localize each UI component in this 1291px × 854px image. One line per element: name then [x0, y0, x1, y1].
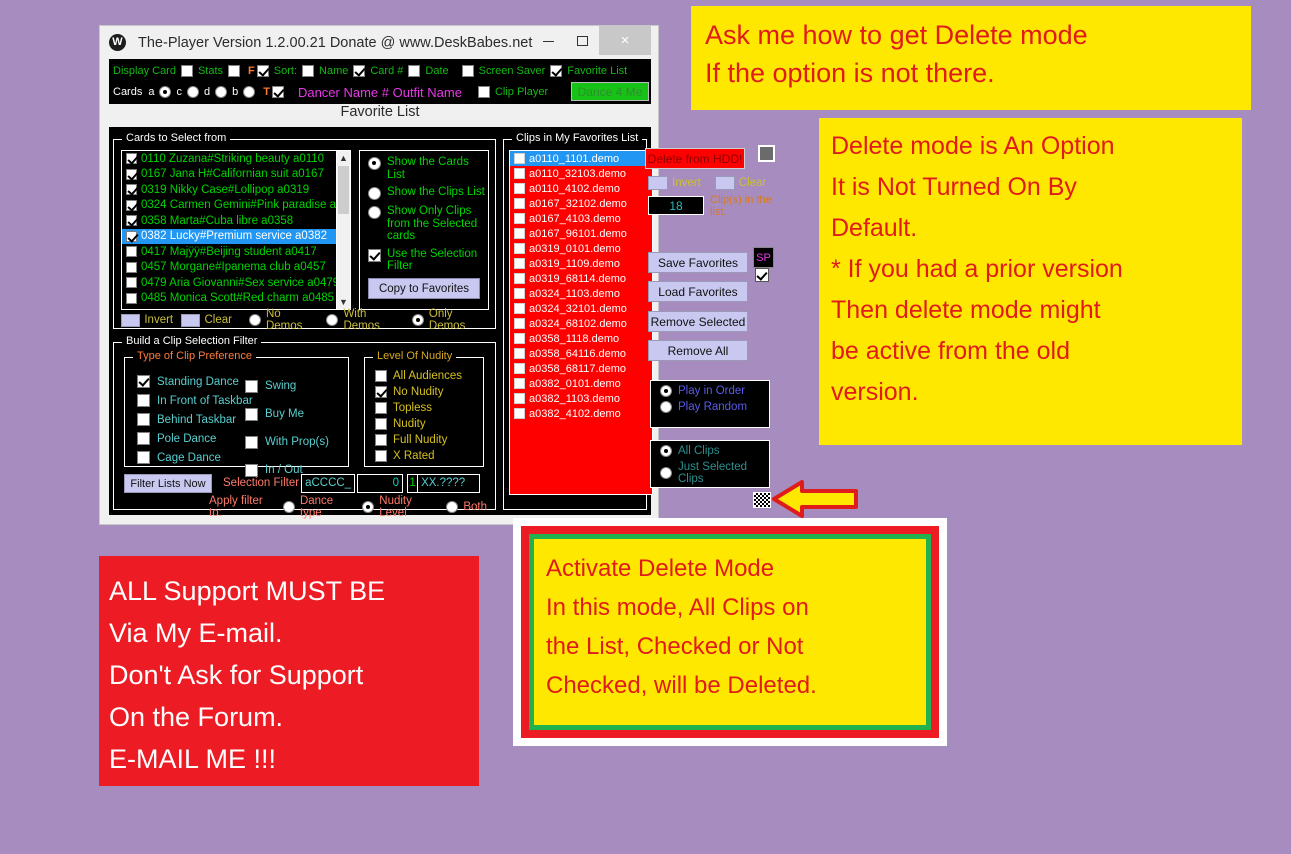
display-card-checkbox[interactable] — [181, 65, 193, 77]
clip-type-option[interactable]: Behind Taskbar — [135, 410, 253, 429]
demo-mode-label: With Demos — [343, 308, 402, 332]
clip-item-label: a0319_1109.demo — [529, 258, 620, 270]
clip-type-option-label: Swing — [265, 380, 296, 392]
cards-label: Cards — [113, 86, 142, 98]
clip-item-label: a0324_68102.demo — [529, 318, 627, 330]
clip-list-item[interactable]: a0382_4102.demo — [510, 406, 652, 421]
cards-clear-label: Clear — [204, 314, 231, 326]
cards-view-options: Show the Cards ListShow the Clips ListSh… — [359, 150, 489, 310]
remove-selected-button[interactable]: Remove Selected — [648, 311, 748, 332]
radio-button[interactable] — [660, 467, 672, 479]
demo-mode-label: Only Demos — [429, 308, 489, 332]
clip-list-item[interactable]: a0319_1109.demo — [510, 256, 652, 271]
minimize-button[interactable] — [531, 26, 565, 56]
annotation-line: Then delete mode might — [831, 290, 1242, 331]
nudity-level-option-label: Full Nudity — [393, 434, 447, 446]
sort-name-checkbox[interactable] — [302, 65, 314, 77]
radio-button[interactable] — [249, 314, 261, 326]
options-toolbar: Display Card Stats F Sort: Name Card # D… — [109, 59, 651, 104]
annotation-line: be active from the old — [831, 331, 1242, 372]
filter-lists-now-button[interactable]: Filter Lists Now — [124, 474, 212, 493]
checkbox[interactable] — [245, 436, 258, 449]
clip-list-item[interactable]: a0110_4102.demo — [510, 181, 652, 196]
annotation-line: Default. — [831, 208, 1242, 249]
clip-list-item[interactable]: a0358_1118.demo — [510, 331, 652, 346]
nudity-level-option[interactable]: X Rated — [373, 448, 462, 464]
clip-item-label: a0319_68114.demo — [529, 273, 626, 285]
clip-list-item[interactable]: a0324_68102.demo — [510, 316, 652, 331]
selection-filter-label: Selection Filter — [223, 477, 299, 489]
sp-checkbox[interactable] — [755, 268, 769, 282]
annotation-line: On the Forum. — [109, 696, 479, 738]
checkbox[interactable] — [137, 413, 150, 426]
radio-button[interactable] — [660, 385, 672, 397]
delete-from-hdd-button[interactable]: Delete from HDD! — [645, 148, 745, 169]
copy-to-favorites-button[interactable]: Copy to Favorites — [368, 278, 480, 299]
clip-list-item[interactable]: a0110_32103.demo — [510, 166, 652, 181]
clip-list-item[interactable]: a0382_1103.demo — [510, 391, 652, 406]
scrollbar-thumb[interactable] — [338, 166, 349, 214]
cards-view-option[interactable]: Show Only Clips from the Selected cards — [366, 205, 488, 243]
selection-filter-index-input[interactable]: 1 — [407, 474, 418, 493]
clip-type-option[interactable]: With Prop(s) — [243, 428, 329, 456]
card-item-label: 0457 Morgane#Ipanema club a0457 — [141, 261, 326, 273]
clip-scope-option-label: Just Selected Clips — [678, 461, 769, 485]
nudity-level-option[interactable]: Nudity — [373, 416, 462, 432]
clip-type-option-label: With Prop(s) — [265, 436, 329, 448]
clip-list-item[interactable]: a0324_1103.demo — [510, 286, 652, 301]
demo-mode-option[interactable]: No Demos — [247, 308, 317, 332]
checkbox[interactable] — [514, 213, 525, 224]
t-label: T — [263, 86, 270, 98]
clip-item-label: a0167_4103.demo — [529, 213, 621, 225]
checkbox[interactable] — [245, 380, 258, 393]
nudity-level-option[interactable]: Full Nudity — [373, 432, 462, 448]
cards-view-option-label: Use the Selection Filter — [387, 248, 488, 273]
checkbox[interactable] — [514, 408, 525, 419]
clip-item-label: a0319_0101.demo — [529, 243, 621, 255]
card-item-label: 0382 Lucky#Premium service a0382 — [141, 230, 327, 242]
clip-item-label: a0324_1103.demo — [529, 288, 620, 300]
card-list-item[interactable]: 0358 Marta#Cuba libre a0358 — [122, 213, 342, 229]
screen-saver-label: Screen Saver — [479, 65, 546, 77]
clip-type-option-label: In Front of Taskbar — [157, 395, 253, 407]
card-list-item[interactable]: 0324 Carmen Gemini#Pink paradise a0324 — [122, 198, 342, 214]
radio-button[interactable] — [660, 445, 672, 457]
level-of-nudity-group: Level Of Nudity All AudiencesNo NudityTo… — [364, 357, 484, 467]
annotation-activate-delete-mode: Activate Delete ModeIn this mode, All Cl… — [513, 518, 947, 746]
card-a-label: a — [148, 86, 154, 98]
stats-label: Stats — [198, 65, 223, 77]
delete-mode-toggle[interactable] — [758, 145, 775, 162]
card-d-label: d — [204, 86, 210, 98]
favorite-list-checkbox[interactable] — [550, 65, 562, 77]
apply-filter-option[interactable]: Dance type — [281, 495, 352, 519]
cards-group-legend: Cards to Select from — [122, 132, 230, 144]
clip-type-option-label: Behind Taskbar — [157, 414, 236, 426]
minimize-icon — [543, 41, 554, 42]
title-bar: W The-Player Version 1.2.00.21 Donate @ … — [100, 26, 658, 59]
radio-button[interactable] — [326, 314, 338, 326]
f-checkbox[interactable] — [257, 65, 269, 77]
clip-item-label: a0167_96101.demo — [529, 228, 627, 240]
play-order-group: Play in OrderPlay Random — [650, 380, 770, 428]
checkbox[interactable] — [514, 153, 525, 164]
checkbox[interactable] — [137, 375, 150, 388]
clips-clear-label: Clear — [739, 177, 766, 189]
card-item-label: 0417 Majÿÿ#Beijing student a0417 — [141, 246, 317, 258]
clips-list[interactable]: a0110_1101.demoa0110_32103.demoa0110_410… — [509, 150, 653, 495]
window-title: The-Player Version 1.2.00.21 Donate @ ww… — [138, 35, 532, 51]
checkbox[interactable] — [126, 169, 137, 180]
clip-type-option[interactable]: Swing — [243, 372, 329, 400]
cards-view-option-label: Show the Clips List — [387, 186, 485, 199]
checkbox[interactable] — [368, 249, 381, 262]
stats-checkbox[interactable] — [228, 65, 240, 77]
annotation-delete-mode-option: Delete mode is An OptionIt is Not Turned… — [819, 118, 1242, 445]
clip-list-item[interactable]: a0319_0101.demo — [510, 241, 652, 256]
checkbox[interactable] — [126, 231, 137, 242]
cards-view-option-label: Show Only Clips from the Selected cards — [387, 205, 488, 243]
checkbox[interactable] — [137, 394, 150, 407]
card-item-label: 0167 Jana H#Californian suit a0167 — [141, 168, 324, 180]
annotation-line: Ask me how to get Delete mode — [705, 16, 1251, 54]
annotation-line: Checked, will be Deleted. — [546, 666, 926, 705]
clips-invert-label: Invert — [672, 177, 701, 189]
annotation-line: version. — [831, 372, 1242, 413]
clip-type-option[interactable]: In Front of Taskbar — [135, 391, 253, 410]
checkbox[interactable] — [514, 198, 525, 209]
clip-list-item[interactable]: a0324_32101.demo — [510, 301, 652, 316]
cards-invert-button[interactable] — [121, 314, 140, 327]
checkbox[interactable] — [514, 393, 525, 404]
annotation-line: Activate Delete Mode — [546, 549, 926, 588]
checkbox[interactable] — [375, 370, 387, 382]
radio-button[interactable] — [368, 187, 381, 200]
clip-item-label: a0110_4102.demo — [529, 183, 620, 195]
card-a-radio[interactable] — [159, 86, 171, 98]
checkbox[interactable] — [137, 432, 150, 445]
pointer-arrow-icon — [772, 478, 858, 520]
checkbox[interactable] — [514, 378, 525, 389]
maximize-button[interactable] — [565, 26, 599, 56]
clip-type-option[interactable]: Pole Dance — [135, 429, 253, 448]
radio-button[interactable] — [660, 401, 672, 413]
checkbox[interactable] — [514, 363, 525, 374]
clip-type-option-label: Cage Dance — [157, 452, 221, 464]
checkbox[interactable] — [514, 318, 525, 329]
clips-group-legend: Clips in My Favorites List — [512, 132, 642, 144]
checkbox[interactable] — [245, 408, 258, 421]
clip-item-label: a0358_1118.demo — [529, 333, 619, 345]
card-b-label: b — [232, 86, 238, 98]
checkbox[interactable] — [514, 243, 525, 254]
nudity-level-option-label: All Audiences — [393, 370, 462, 382]
clip-list-item[interactable]: a0110_1101.demo — [510, 151, 652, 166]
card-c-radio[interactable] — [187, 86, 199, 98]
screen-saver-checkbox[interactable] — [462, 65, 474, 77]
app-logo-icon: W — [109, 34, 126, 51]
apply-filter-option[interactable]: Both — [444, 501, 487, 513]
clip-selection-filter-group: Build a Clip Selection Filter Type of Cl… — [113, 342, 496, 510]
checkbox[interactable] — [514, 288, 525, 299]
selection-filter-mask-input[interactable]: XX.???? — [418, 474, 480, 493]
clip-list-item[interactable]: a0167_96101.demo — [510, 226, 652, 241]
checkbox[interactable] — [126, 246, 137, 257]
annotation-support-email: ALL Support MUST BEVia My E-mail.Don't A… — [99, 556, 479, 786]
radio-button[interactable] — [368, 157, 381, 170]
clip-item-label: a0167_32102.demo — [529, 198, 627, 210]
card-list-item[interactable]: 0457 Morgane#Ipanema club a0457 — [122, 260, 342, 276]
dance-4-me-button[interactable]: Dance 4 Me — [571, 82, 649, 101]
display-card-label: Display Card — [113, 65, 176, 77]
card-item-label: 0319 Nikky Case#Lollipop a0319 — [141, 184, 309, 196]
checkbox[interactable] — [126, 293, 137, 304]
radio-button[interactable] — [368, 206, 381, 219]
sort-date-label: Date — [425, 65, 448, 77]
scroll-down-icon[interactable]: ▼ — [337, 295, 350, 309]
radio-button[interactable] — [446, 501, 458, 513]
clip-type-option-label: Pole Dance — [157, 433, 216, 445]
annotation-line: Via My E-mail. — [109, 612, 479, 654]
checkbox[interactable] — [514, 228, 525, 239]
checkbox[interactable] — [514, 168, 525, 179]
annotation-body: Activate Delete ModeIn this mode, All Cl… — [534, 539, 926, 725]
card-list-item[interactable]: 0479 Aria Giovanni#Sex service a0479 — [122, 275, 342, 291]
card-list-item[interactable]: 0110 Zuzana#Striking beauty a0110 — [122, 151, 342, 167]
apply-filter-row: Apply filter to: Dance typeNudity LevelB… — [209, 495, 495, 519]
clip-type-option-label: Buy Me — [265, 408, 304, 420]
play-order-option-label: Play Random — [678, 401, 747, 413]
clip-list-item[interactable]: a0167_4103.demo — [510, 211, 652, 226]
card-b-radio[interactable] — [243, 86, 255, 98]
checkbox[interactable] — [514, 258, 525, 269]
f-label: F — [248, 65, 255, 77]
play-order-option-label: Play in Order — [678, 385, 745, 397]
maximize-icon — [577, 36, 588, 46]
checkbox[interactable] — [375, 386, 387, 398]
clip-item-label: a0358_68117.demo — [529, 363, 626, 375]
card-list-item[interactable]: 0485 Monica Scott#Red charm a0485 — [122, 291, 342, 307]
clip-item-label: a0382_4102.demo — [529, 408, 621, 420]
clip-item-label: a0358_64116.demo — [529, 348, 626, 360]
nudity-level-option-label: No Nudity — [393, 386, 444, 398]
clip-list-item[interactable]: a0319_68114.demo — [510, 271, 652, 286]
checkbox[interactable] — [514, 183, 525, 194]
clip-list-item[interactable]: a0358_64116.demo — [510, 346, 652, 361]
sort-cardnum-label: Card # — [370, 65, 403, 77]
nudity-level-option-label: Topless — [393, 402, 432, 414]
card-item-label: 0324 Carmen Gemini#Pink paradise a0324 — [141, 199, 343, 211]
demo-mode-option[interactable]: Only Demos — [410, 308, 489, 332]
cards-list-scrollbar[interactable]: ▲ ▼ — [336, 150, 351, 310]
favorite-list-label: Favorite List — [567, 65, 627, 77]
scroll-up-icon[interactable]: ▲ — [337, 151, 350, 165]
cards-bottom-bar: Invert Clear No DemosWith DemosOnly Demo… — [121, 312, 489, 328]
annotation-border-green: Activate Delete ModeIn this mode, All Cl… — [529, 534, 931, 730]
clips-invert-clear-row: Invert Clear — [648, 176, 774, 190]
checkbox[interactable] — [514, 333, 525, 344]
clip-list-item[interactable]: a0358_68117.demo — [510, 361, 652, 376]
annotation-line: Delete mode is An Option — [831, 126, 1242, 167]
play-order-option[interactable]: Play Random — [658, 401, 769, 413]
apply-filter-option[interactable]: Nudity Level — [360, 495, 436, 519]
card-item-label: 0479 Aria Giovanni#Sex service a0479 — [141, 277, 339, 289]
clips-clear-button[interactable] — [715, 176, 735, 190]
remove-all-button[interactable]: Remove All — [648, 340, 748, 361]
nudity-level-option[interactable]: Topless — [373, 400, 462, 416]
t-checkbox[interactable] — [272, 86, 284, 98]
checkbox[interactable] — [514, 303, 525, 314]
clip-scope-option-label: All Clips — [678, 445, 720, 457]
apply-filter-option-label: Dance type — [300, 495, 352, 519]
card-list-item[interactable]: 0417 Majÿÿ#Beijing student a0417 — [122, 244, 342, 260]
checker-icon — [754, 493, 770, 507]
checkbox[interactable] — [375, 418, 387, 430]
clip-type-option[interactable]: Cage Dance — [135, 448, 253, 467]
card-list-item[interactable]: 0382 Lucky#Premium service a0382 — [122, 229, 342, 245]
nudity-level-option[interactable]: No Nudity — [373, 384, 462, 400]
close-button[interactable]: × — [599, 26, 651, 55]
apply-filter-option-label: Both — [463, 501, 487, 513]
annotation-line: ALL Support MUST BE — [109, 570, 479, 612]
clips-in-favorites-group: Clips in My Favorites List a0110_1101.de… — [503, 139, 647, 510]
radio-button[interactable] — [283, 501, 295, 513]
clip-count-label: Clip(s) in the list. — [710, 194, 772, 218]
annotation-line: It is Not Turned On By — [831, 167, 1242, 208]
annotation-line: If the option is not there. — [705, 54, 1251, 92]
nudity-level-option-label: X Rated — [393, 450, 435, 462]
checkbox[interactable] — [126, 262, 137, 273]
play-order-option[interactable]: Play in Order — [658, 385, 769, 397]
clip-item-label: a0110_32103.demo — [529, 168, 626, 180]
clip-scope-group: All ClipsJust Selected Clips — [650, 440, 770, 488]
clip-item-label: a0382_1103.demo — [529, 393, 620, 405]
clip-list-item[interactable]: a0167_32102.demo — [510, 196, 652, 211]
annotation-line: Don't Ask for Support — [109, 654, 479, 696]
radio-button[interactable] — [412, 314, 424, 326]
clip-item-label: a0324_32101.demo — [529, 303, 627, 315]
sort-cardnum-checkbox[interactable] — [353, 65, 365, 77]
demo-mode-label: No Demos — [266, 308, 317, 332]
clip-type-option-label: Standing Dance — [157, 376, 239, 388]
cards-to-select-group: Cards to Select from 0110 Zuzana#Strikin… — [113, 139, 496, 329]
cards-view-option[interactable]: Use the Selection Filter — [366, 248, 488, 273]
checkbox[interactable] — [514, 348, 525, 359]
load-favorites-button[interactable]: Load Favorites — [648, 281, 748, 302]
cards-view-option-label: Show the Cards List — [387, 156, 488, 181]
clips-invert-button[interactable] — [648, 176, 668, 190]
sort-name-label: Name — [319, 65, 348, 77]
checkbox[interactable] — [126, 200, 137, 211]
checkered-mode-button[interactable] — [753, 492, 771, 508]
cards-view-option[interactable]: Show the Cards List — [366, 156, 488, 181]
checkbox[interactable] — [375, 434, 387, 446]
card-d-radio[interactable] — [215, 86, 227, 98]
annotation-line: E-MAIL ME !!! — [109, 738, 479, 780]
card-c-label: c — [176, 86, 182, 98]
sp-badge: SP — [753, 247, 774, 268]
checkbox[interactable] — [126, 184, 137, 195]
type-group-legend: Type of Clip Preference — [133, 350, 256, 362]
card-item-label: 0358 Marta#Cuba libre a0358 — [141, 215, 293, 227]
clip-scope-option[interactable]: Just Selected Clips — [658, 461, 769, 485]
annotation-line: * If you had a prior version — [831, 249, 1242, 290]
nudity-level-option-label: Nudity — [393, 418, 426, 430]
cards-view-option[interactable]: Show the Clips List — [366, 186, 488, 200]
annotation-border-red: Activate Delete ModeIn this mode, All Cl… — [521, 526, 939, 738]
clip-item-label: a0382_0101.demo — [529, 378, 621, 390]
application-window: W The-Player Version 1.2.00.21 Donate @ … — [99, 25, 659, 525]
card-item-label: 0110 Zuzana#Striking beauty a0110 — [141, 153, 324, 165]
checkbox[interactable] — [375, 450, 387, 462]
clip-type-option[interactable]: Buy Me — [243, 400, 329, 428]
cards-list[interactable]: 0110 Zuzana#Striking beauty a01100167 Ja… — [121, 150, 343, 310]
checkbox[interactable] — [126, 215, 137, 226]
save-favorites-button[interactable]: Save Favorites — [648, 252, 748, 273]
content-area: Cards to Select from 0110 Zuzana#Strikin… — [109, 127, 651, 515]
radio-button[interactable] — [362, 501, 374, 513]
checkbox[interactable] — [514, 273, 525, 284]
sort-date-checkbox[interactable] — [408, 65, 420, 77]
type-of-clip-preference-group: Type of Clip Preference Standing DanceIn… — [124, 357, 349, 467]
filter-group-legend: Build a Clip Selection Filter — [122, 335, 261, 347]
annotation-line: In this mode, All Clips on — [546, 588, 926, 627]
clip-scope-option[interactable]: All Clips — [658, 445, 769, 457]
card-list-item[interactable]: 0319 Nikky Case#Lollipop a0319 — [122, 182, 342, 198]
checkbox[interactable] — [375, 402, 387, 414]
clip-list-item[interactable]: a0382_0101.demo — [510, 376, 652, 391]
checkbox[interactable] — [137, 451, 150, 464]
filter-controls-row: Filter Lists Now Selection Filter aCCCC_… — [124, 473, 489, 493]
selection-filter-number-input[interactable]: 0 — [357, 474, 403, 493]
nudity-group-legend: Level Of Nudity — [373, 350, 456, 362]
apply-filter-to-label: Apply filter to: — [209, 495, 275, 519]
checkbox[interactable] — [126, 153, 137, 164]
nudity-level-option[interactable]: All Audiences — [373, 368, 462, 384]
clip-type-option[interactable]: Standing Dance — [135, 372, 253, 391]
annotation-ask-me: Ask me how to get Delete modeIf the opti… — [691, 6, 1251, 110]
clip-item-label: a0110_1101.demo — [529, 153, 619, 165]
annotation-line: the List, Checked or Not — [546, 627, 926, 666]
sort-label: Sort: — [274, 65, 297, 77]
cards-clear-button[interactable] — [181, 314, 200, 327]
favorite-list-heading: Favorite List — [100, 104, 660, 120]
card-item-label: 0485 Monica Scott#Red charm a0485 — [141, 292, 334, 304]
selection-filter-pattern-input[interactable]: aCCCC_ — [301, 474, 355, 493]
apply-filter-option-label: Nudity Level — [379, 495, 436, 519]
demo-mode-option[interactable]: With Demos — [324, 308, 402, 332]
clip-player-checkbox[interactable] — [478, 86, 490, 98]
card-list-item[interactable]: 0167 Jana H#Californian suit a0167 — [122, 167, 342, 183]
cards-invert-label: Invert — [144, 314, 173, 326]
checkbox[interactable] — [126, 277, 137, 288]
dancer-name-outfit-label: Dancer Name # Outfit Name — [298, 85, 462, 100]
clip-player-label: Clip Player — [495, 86, 548, 98]
